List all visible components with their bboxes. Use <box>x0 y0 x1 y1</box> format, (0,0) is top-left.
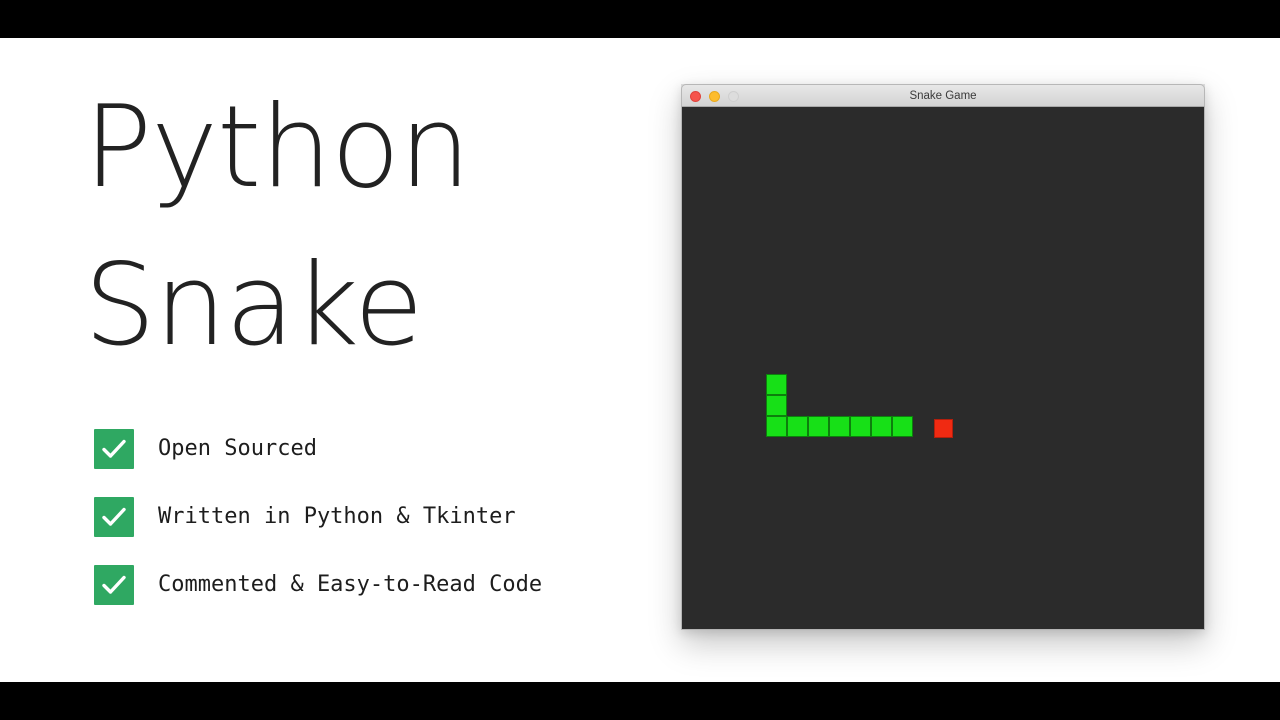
letterbox-bottom <box>0 682 1280 720</box>
snake-head <box>892 416 913 437</box>
slide-content: Python Snake Open Sourced <box>0 38 1280 682</box>
snake-segment <box>850 416 871 437</box>
game-canvas[interactable] <box>681 107 1205 630</box>
check-icon <box>101 505 127 529</box>
feature-label-commented-easy-to-read-code: Commented & Easy-to-Read Code <box>158 574 542 596</box>
snake-segment <box>808 416 829 437</box>
feature-label-written-in-python-tkinter: Written in Python & Tkinter <box>158 506 516 528</box>
check-icon <box>101 437 127 461</box>
list-item: Commented & Easy-to-Read Code <box>94 564 624 606</box>
slide-stage: Python Snake Open Sourced <box>0 0 1280 720</box>
letterbox-top <box>0 0 1280 38</box>
food-item <box>934 419 953 438</box>
list-item: Written in Python & Tkinter <box>94 496 624 538</box>
feature-label-open-sourced: Open Sourced <box>158 438 317 460</box>
snake-segment <box>787 416 808 437</box>
window-title-bar[interactable]: Snake Game <box>681 84 1205 107</box>
snake-game-window[interactable]: Snake Game <box>681 84 1205 630</box>
checkbox-written-in-python-tkinter[interactable] <box>94 497 134 537</box>
feature-list: Open Sourced Written in Python & Tkinter <box>94 428 624 632</box>
checkbox-commented-easy-to-read-code[interactable] <box>94 565 134 605</box>
list-item: Open Sourced <box>94 428 624 470</box>
snake-segment <box>766 374 787 395</box>
snake-segment <box>766 395 787 416</box>
check-icon <box>101 573 127 597</box>
checkbox-open-sourced[interactable] <box>94 429 134 469</box>
snake-segment <box>871 416 892 437</box>
left-column: Python Snake Open Sourced <box>84 38 624 682</box>
page-title: Python Snake <box>84 68 624 384</box>
snake-segment <box>766 416 787 437</box>
snake-segment <box>829 416 850 437</box>
window-title: Snake Game <box>682 85 1204 108</box>
